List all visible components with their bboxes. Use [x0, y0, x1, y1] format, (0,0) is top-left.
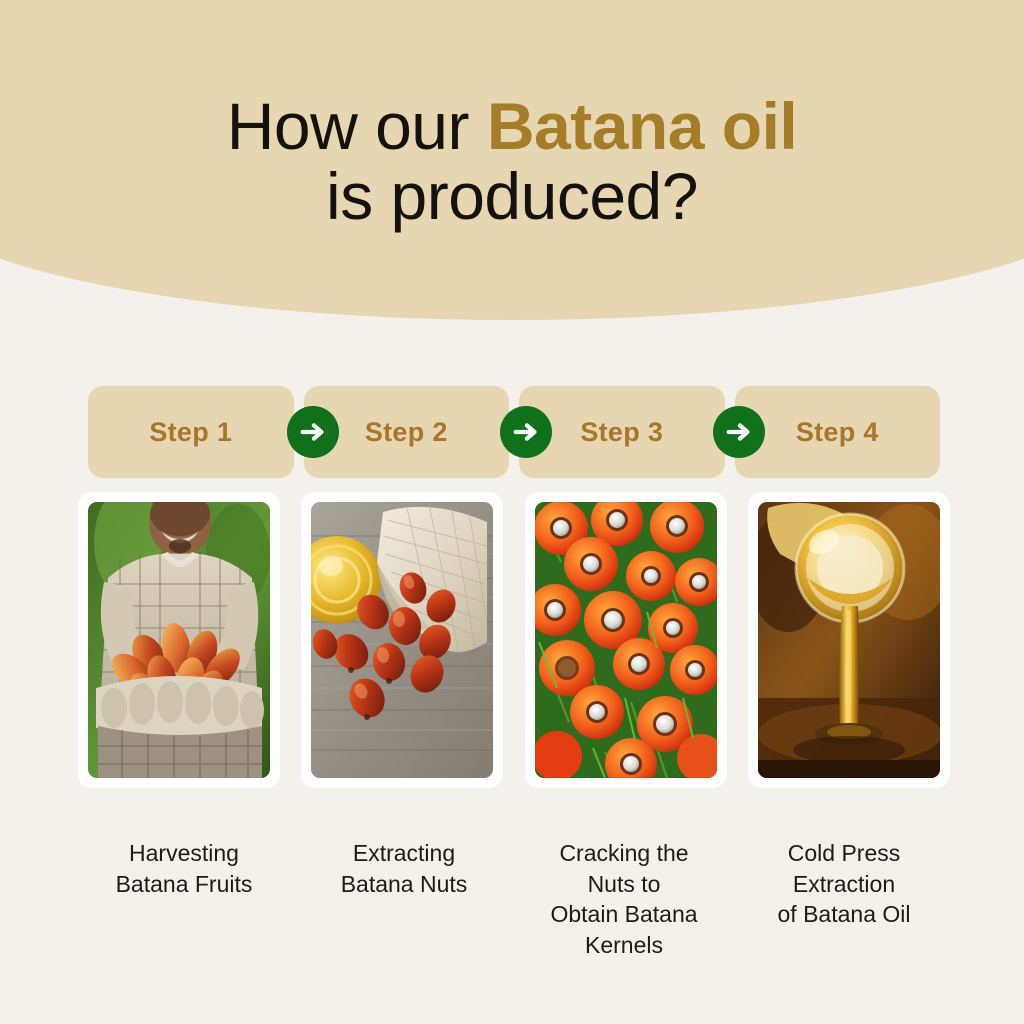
step-label-3: Step 3 — [580, 417, 663, 448]
arrow-right-icon — [287, 406, 339, 458]
arrow-right-icon — [713, 406, 765, 458]
title-accent-text: Batana oil — [487, 89, 797, 163]
step-box-1[interactable]: Step 1 — [88, 386, 294, 478]
photo-card-2[interactable] — [301, 492, 503, 788]
step-label-2: Step 2 — [365, 417, 448, 448]
caption-3: Cracking the Nuts to Obtain Batana Kerne… — [518, 838, 730, 960]
title-line-2: is produced? — [0, 162, 1024, 232]
caption-1: Harvesting Batana Fruits — [78, 838, 290, 960]
caption-3-line-3: Obtain Batana — [518, 899, 730, 930]
photo-extracting-batana-nuts — [311, 502, 493, 778]
steps-row: Step 1 Step 2 Step 3 Step 4 — [88, 386, 940, 478]
caption-3-line-4: Kernels — [518, 930, 730, 961]
caption-3-line-2: Nuts to — [518, 869, 730, 900]
caption-4-line-2: Extraction — [738, 869, 950, 900]
arrow-right-icon — [500, 406, 552, 458]
caption-1-line-1: Harvesting — [78, 838, 290, 869]
page-title: How our Batana oil is produced? — [0, 92, 1024, 232]
caption-2: Extracting Batana Nuts — [298, 838, 510, 960]
photo-cards-row — [78, 492, 950, 788]
photo-cold-press-extraction — [758, 502, 940, 778]
step-label-1: Step 1 — [149, 417, 232, 448]
photo-card-1[interactable] — [78, 492, 280, 788]
caption-2-line-2: Batana Nuts — [298, 869, 510, 900]
infographic-page: How our Batana oil is produced? Step 1 S… — [0, 0, 1024, 1024]
step-box-4[interactable]: Step 4 — [735, 386, 941, 478]
caption-1-line-2: Batana Fruits — [78, 869, 290, 900]
captions-row: Harvesting Batana Fruits Extracting Bata… — [78, 838, 950, 960]
caption-4-line-3: of Batana Oil — [738, 899, 950, 930]
caption-4: Cold Press Extraction of Batana Oil — [738, 838, 950, 960]
photo-harvesting-batana-fruits — [88, 502, 270, 778]
caption-2-line-1: Extracting — [298, 838, 510, 869]
photo-cracking-nuts-kernels — [535, 502, 717, 778]
title-plain-text: How our — [227, 89, 487, 163]
caption-3-line-1: Cracking the — [518, 838, 730, 869]
photo-card-4[interactable] — [748, 492, 950, 788]
photo-card-3[interactable] — [525, 492, 727, 788]
step-label-4: Step 4 — [796, 417, 879, 448]
title-line-1: How our Batana oil — [0, 92, 1024, 162]
caption-4-line-1: Cold Press — [738, 838, 950, 869]
